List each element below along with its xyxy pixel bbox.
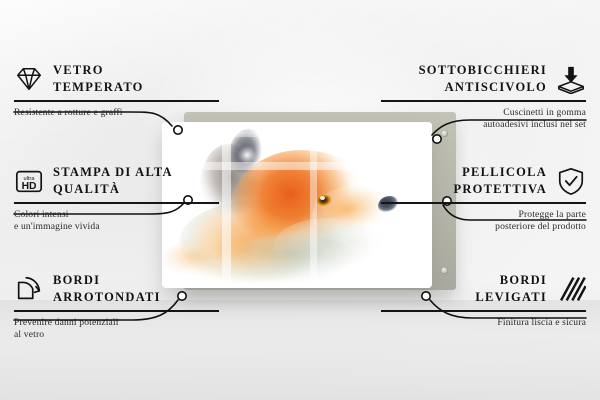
feature-title-line1: STAMPA DI ALTA: [53, 164, 173, 181]
feature-tempered-glass: VETRO TEMPERATO Resistente a rotture e g…: [14, 62, 219, 119]
feature-header: BORDI ARROTONDATI: [14, 272, 219, 305]
feature-divider: [14, 202, 219, 204]
feature-title-line1: PELLICOLA: [453, 164, 547, 181]
feature-subtitle-line2: e un'immagine vivida: [14, 221, 219, 234]
feature-subtitle: Protegge la parte posteriore del prodott…: [381, 209, 586, 235]
feature-subtitle-line1: Prevenire danni potenziali: [14, 317, 219, 330]
feature-subtitle-line2: posteriore del prodotto: [381, 221, 586, 234]
feature-title-line1: BORDI: [475, 272, 547, 289]
feature-subtitle: Prevenire danni potenziali al vetro: [14, 317, 219, 343]
feature-subtitle: Cuscinetti in gomma autoadesivi inclusi …: [381, 107, 586, 133]
feature-subtitle-line2: al vetro: [14, 329, 219, 342]
feature-polished-edges: BORDI LEVIGATI Finitura liscia e sicura: [381, 272, 586, 329]
anti-slip-pad-icon: [556, 64, 586, 94]
feature-title-line1: VETRO: [53, 62, 144, 79]
feature-divider: [381, 202, 586, 204]
feature-divider: [381, 100, 586, 102]
polished-edge-icon: [556, 274, 586, 304]
diamond-icon: [14, 64, 44, 94]
feature-protective-film: PELLICOLA PROTETTIVA Protegge la parte p…: [381, 164, 586, 234]
feature-subtitle-line1: Resistente a rotture e graffi: [14, 107, 219, 120]
feature-divider: [14, 100, 219, 102]
feature-title-line2: LEVIGATI: [475, 289, 547, 306]
feature-title-line1: BORDI: [53, 272, 161, 289]
feature-title-line2: TEMPERATO: [53, 79, 144, 96]
feature-title: BORDI ARROTONDATI: [53, 272, 161, 305]
feature-title-line2: ARROTONDATI: [53, 289, 161, 306]
feature-subtitle-line1: Colori intensi: [14, 209, 219, 222]
feature-title-line2: ANTISCIVOLO: [419, 79, 547, 96]
feature-header: BORDI LEVIGATI: [381, 272, 586, 305]
feature-title-line2: QUALITÀ: [53, 181, 173, 198]
feature-subtitle-line1: Finitura liscia e sicura: [381, 317, 586, 330]
feature-header: SOTTOBICCHIERI ANTISCIVOLO: [381, 62, 586, 95]
feature-subtitle-line1: Cuscinetti in gomma: [381, 107, 586, 120]
infographic-stage: VETRO TEMPERATO Resistente a rotture e g…: [0, 0, 600, 400]
shield-check-icon: [556, 166, 586, 196]
feature-high-quality-print: ultra HD STAMPA DI ALTA QUALITÀ Colori i…: [14, 164, 219, 234]
fox-eye-highlight: [320, 196, 325, 200]
feature-subtitle: Resistente a rotture e graffi: [14, 107, 219, 120]
feature-rounded-edges: BORDI ARROTONDATI Prevenire danni potenz…: [14, 272, 219, 342]
feature-divider: [381, 310, 586, 312]
rounded-corner-icon: [14, 274, 44, 304]
feature-header: VETRO TEMPERATO: [14, 62, 219, 95]
feature-header: PELLICOLA PROTETTIVA: [381, 164, 586, 197]
feature-title: SOTTOBICCHIERI ANTISCIVOLO: [419, 62, 547, 95]
feature-subtitle-line1: Protegge la parte: [381, 209, 586, 222]
feature-title: VETRO TEMPERATO: [53, 62, 144, 95]
feature-title: PELLICOLA PROTETTIVA: [453, 164, 547, 197]
feature-header: ultra HD STAMPA DI ALTA QUALITÀ: [14, 164, 219, 197]
feature-subtitle-line2: autoadesivi inclusi nel set: [381, 119, 586, 132]
feature-title-line2: PROTETTIVA: [453, 181, 547, 198]
feature-title-line1: SOTTOBICCHIERI: [419, 62, 547, 79]
feature-title: STAMPA DI ALTA QUALITÀ: [53, 164, 173, 197]
fox-chest: [228, 234, 358, 288]
ultra-hd-icon: ultra HD: [14, 166, 44, 196]
feature-subtitle: Colori intensi e un'immagine vivida: [14, 209, 219, 235]
ultra-hd-icon-large-label: HD: [22, 180, 37, 191]
feature-title: BORDI LEVIGATI: [475, 272, 547, 305]
feature-subtitle: Finitura liscia e sicura: [381, 317, 586, 330]
feature-anti-slip-pads: SOTTOBICCHIERI ANTISCIVOLO Cuscinetti in…: [381, 62, 586, 132]
feature-divider: [14, 310, 219, 312]
